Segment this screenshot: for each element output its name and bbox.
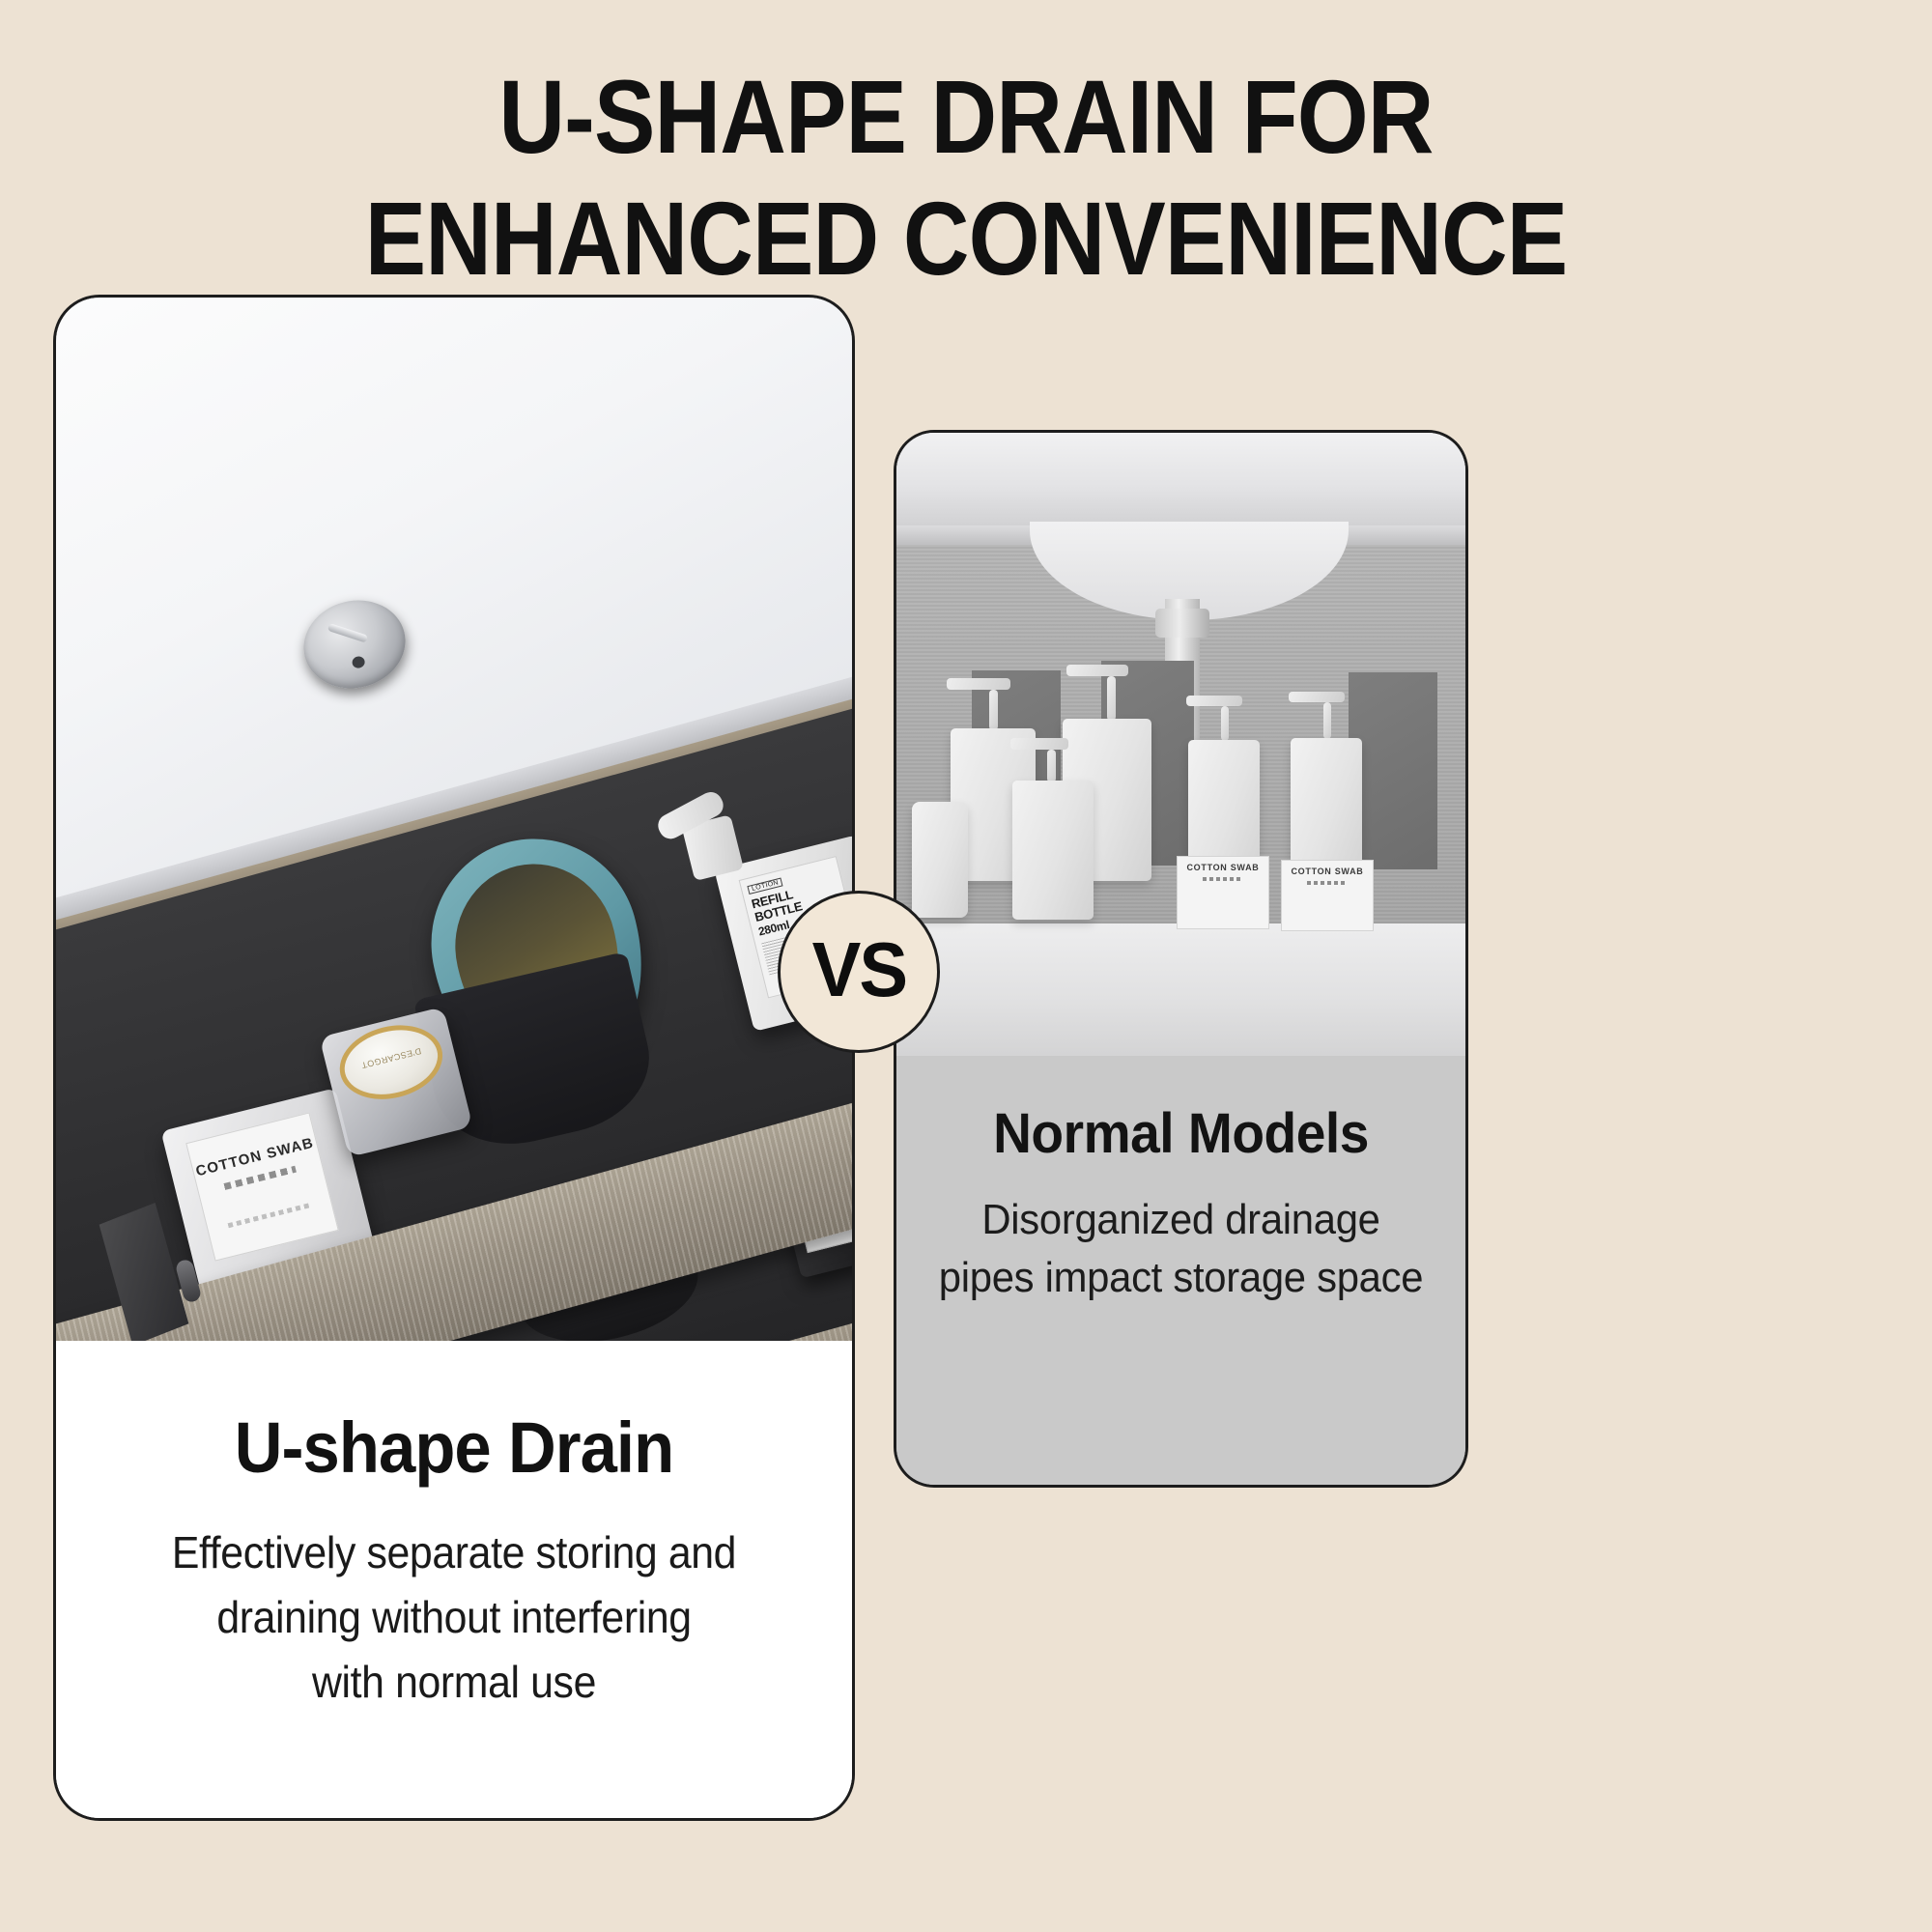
cotton-swab-right-sub [1307,881,1348,885]
pump-head-5 [1289,692,1345,702]
cotton-swab-left-title: COTTON SWAB [1178,863,1268,872]
pump-stem-5 [1323,702,1331,739]
bottle-small-left [912,802,968,918]
pump-stem-4 [1221,706,1229,741]
drain-dot [351,655,366,669]
pump-stem-2 [1107,676,1116,721]
left-body-line-1: Effectively separate storing and [172,1527,736,1577]
drain-slot [327,623,368,643]
vs-badge-label: VS [811,931,906,1009]
pump-stem-3 [1047,750,1056,782]
left-body-line-2: draining without interfering [216,1592,691,1642]
u-shape-drain-photo: COTTON SWAB D'ESCARGOT LOTION REFILL BOT… [56,298,852,1341]
cotton-swab-label: COTTON SWAB [185,1112,339,1261]
pump-stem-1 [989,690,998,730]
cotton-swab-left-sub [1203,877,1243,881]
pump-head-1 [947,678,1010,690]
pump-head-2 [1066,665,1128,676]
cotton-swab-right-title: COTTON SWAB [1282,867,1373,876]
pump-head-3 [1010,738,1068,750]
page-title: U-SHAPE DRAIN FOR ENHANCED CONVENIENCE [0,56,1932,300]
right-comparison-card: COTTON SWAB COTTON SWAB Normal Models Di… [894,430,1468,1488]
bottle-front-center [1012,781,1094,920]
left-comparison-card: COTTON SWAB D'ESCARGOT LOTION REFILL BOT… [53,295,855,1821]
right-card-body: Disorganized drainage pipes impact stora… [911,1191,1452,1307]
cotton-swab-box-right-label: COTTON SWAB [1281,860,1374,931]
countertop [896,433,1465,531]
right-body-line-2: pipes impact storage space [939,1254,1423,1301]
cotton-swab-footer [228,1203,312,1228]
cotton-swab-box-left-label: COTTON SWAB [1177,856,1269,929]
title-line-2: ENHANCED CONVENIENCE [116,178,1816,299]
right-body-line-1: Disorganized drainage [981,1196,1379,1243]
right-card-heading: Normal Models [911,1106,1452,1162]
cabinet-floor [896,923,1465,1056]
drain-pipe-collar [1155,609,1209,638]
left-body-line-3: with normal use [312,1657,596,1707]
title-line-1: U-SHAPE DRAIN FOR [116,56,1816,178]
cotton-swab-title: COTTON SWAB [192,1134,318,1180]
vs-badge: VS [778,891,940,1053]
normal-models-photo: COTTON SWAB COTTON SWAB [896,433,1465,1056]
infographic-page: U-SHAPE DRAIN FOR ENHANCED CONVENIENCE C… [0,0,1932,1932]
left-card-heading: U-shape Drain [84,1412,824,1484]
left-caption: U-shape Drain Effectively separate stori… [56,1341,852,1821]
left-card-body: Effectively separate storing and drainin… [84,1520,824,1715]
pump-head-4 [1186,696,1242,706]
right-caption: Normal Models Disorganized drainage pipe… [896,1056,1465,1488]
